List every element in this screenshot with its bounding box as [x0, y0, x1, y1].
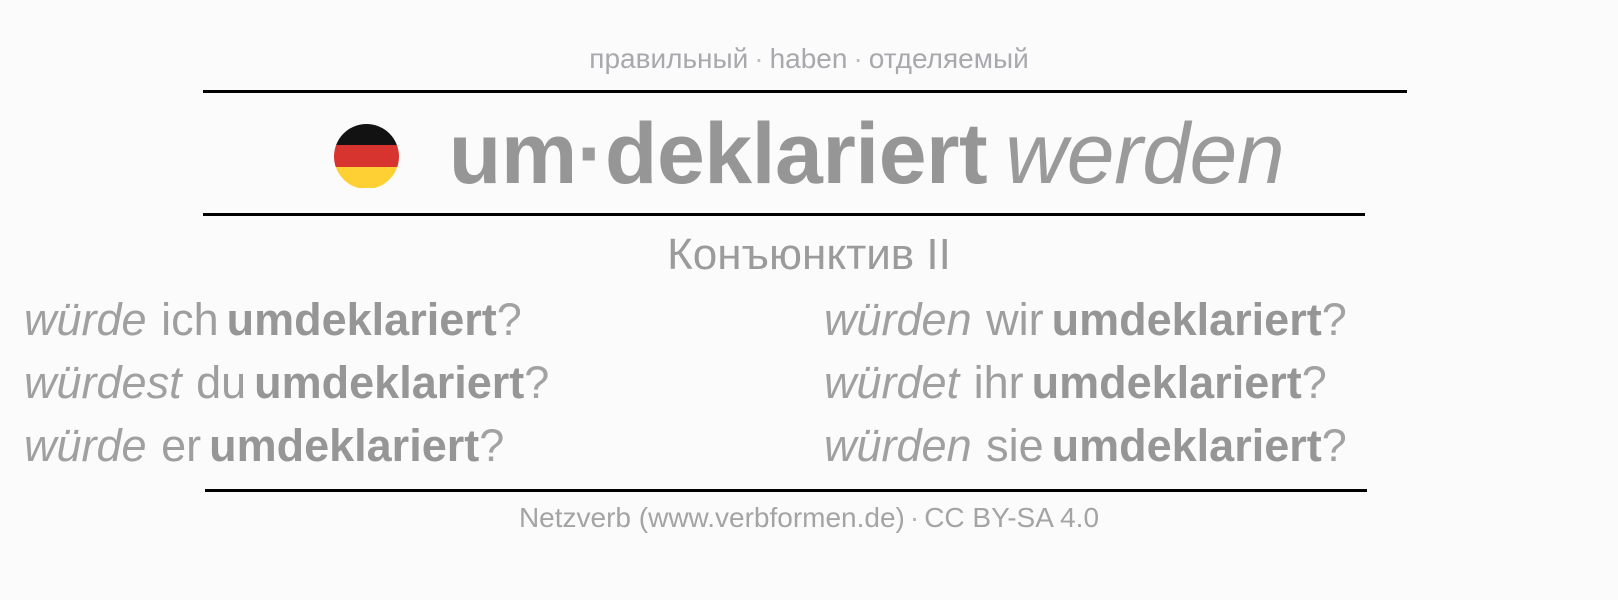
- tense-title: Конъюнктив II: [0, 228, 1618, 282]
- conjugation-cell-2sg: würdest duumdeklariert?: [0, 355, 800, 411]
- meta-separator-2: ·: [847, 43, 868, 74]
- participle: umdeklariert: [1026, 357, 1302, 408]
- footer-source: Netzverb (www.verbformen.de): [519, 502, 905, 533]
- headword-stem: deklariert: [605, 106, 987, 202]
- meta-separator-1: ·: [748, 43, 769, 74]
- headword-separator-dot: ·: [577, 106, 605, 202]
- verb-conjugation-card: правильный·haben·отделяемый um·deklarier…: [0, 0, 1618, 600]
- footer-separator: ·: [905, 502, 924, 533]
- footer-attribution: Netzverb (www.verbformen.de)·CC BY-SA 4.…: [0, 500, 1618, 536]
- aux-verb: würde: [24, 294, 147, 345]
- conjugation-cell-1sg: würde ichumdeklariert?: [0, 292, 800, 348]
- participle: umdeklariert: [248, 357, 524, 408]
- punctuation: ?: [497, 294, 522, 345]
- punctuation: ?: [524, 357, 549, 408]
- footer-license: CC BY-SA 4.0: [924, 502, 1099, 533]
- punctuation: ?: [1302, 357, 1327, 408]
- aux-verb: würde: [24, 420, 147, 471]
- verb-attributes-line: правильный·haben·отделяемый: [0, 42, 1618, 76]
- flag-band-black: [334, 124, 399, 146]
- flag-band-gold: [334, 167, 399, 189]
- participle: umdeklariert: [221, 294, 497, 345]
- participle: umdeklariert: [1046, 420, 1322, 471]
- divider-middle: [203, 213, 1365, 216]
- pronoun: ich: [159, 294, 221, 345]
- aux-verb: würdest: [24, 357, 182, 408]
- pronoun: wir: [984, 294, 1045, 345]
- pronoun: du: [194, 357, 248, 408]
- conjugation-cell-1pl: würden wirumdeklariert?: [800, 292, 1618, 348]
- divider-top: [203, 90, 1407, 93]
- aux-verb: würden: [824, 420, 972, 471]
- punctuation: ?: [1322, 420, 1347, 471]
- flag-band-red: [334, 145, 399, 167]
- headword-auxiliary: werden: [987, 106, 1284, 202]
- aux-verb: würdet: [824, 357, 959, 408]
- conjugation-cell-3pl: würden sieumdeklariert?: [800, 418, 1618, 474]
- aux-verb: würden: [824, 294, 972, 345]
- page-title: um·deklariertwerden: [449, 106, 1284, 202]
- punctuation: ?: [479, 420, 504, 471]
- headword-row: um·deklariertwerden: [0, 100, 1618, 208]
- pronoun: ihr: [972, 357, 1026, 408]
- attribute-separability: отделяемый: [869, 43, 1029, 74]
- conjugation-cell-3sg: würde erumdeklariert?: [0, 418, 800, 474]
- pronoun: er: [159, 420, 203, 471]
- divider-bottom: [205, 489, 1367, 492]
- punctuation: ?: [1322, 294, 1347, 345]
- attribute-auxiliary: haben: [770, 43, 848, 74]
- participle: umdeklariert: [1046, 294, 1322, 345]
- german-flag-icon: [334, 124, 399, 189]
- conjugation-cell-2pl: würdet ihrumdeklariert?: [800, 355, 1618, 411]
- headword-prefix: um: [449, 106, 577, 202]
- attribute-regularity: правильный: [589, 43, 748, 74]
- conjugation-table: würde ichumdeklariert? würden wirumdekla…: [0, 288, 1618, 477]
- participle: umdeklariert: [203, 420, 479, 471]
- pronoun: sie: [984, 420, 1046, 471]
